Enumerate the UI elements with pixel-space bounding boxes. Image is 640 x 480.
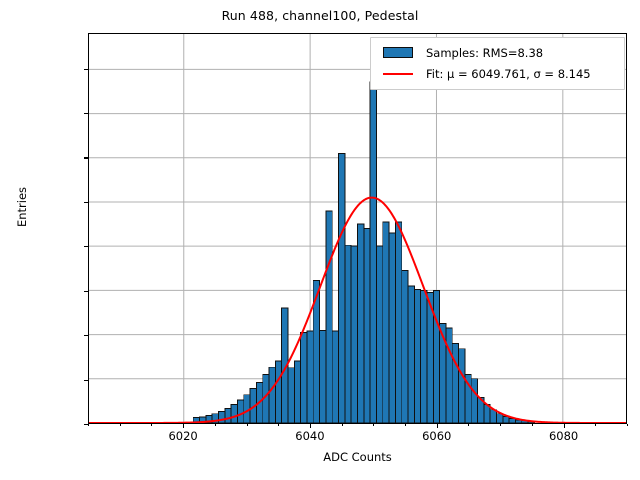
y-axis-label: Entries xyxy=(15,137,29,277)
legend-label-fit: Fit: μ = 6049.761, σ = 8.145 xyxy=(418,67,591,81)
plot-area xyxy=(88,33,627,424)
x-tick-minor-mark xyxy=(247,424,248,426)
x-tick-label: 6040 xyxy=(295,429,324,443)
x-tick-minor-mark xyxy=(88,424,89,426)
x-tick-minor-mark xyxy=(595,424,596,426)
x-tick-mark xyxy=(564,424,565,428)
x-tick-minor-mark xyxy=(468,424,469,426)
legend-line-icon xyxy=(378,73,418,75)
x-tick-minor-mark xyxy=(405,424,406,426)
legend-patch-icon xyxy=(378,47,418,58)
x-tick-minor-mark xyxy=(342,424,343,426)
x-tick-minor-mark xyxy=(278,424,279,426)
x-tick-minor-mark xyxy=(627,424,628,426)
x-tick-minor-mark xyxy=(373,424,374,426)
figure-canvas: Run 488, channel100, Pedestal Entries AD… xyxy=(0,0,640,480)
legend-label-samples: Samples: RMS=8.38 xyxy=(418,46,543,60)
x-tick-mark xyxy=(437,424,438,428)
x-tick-minor-mark xyxy=(151,424,152,426)
x-tick-minor-mark xyxy=(500,424,501,426)
x-tick-minor-mark xyxy=(215,424,216,426)
x-tick-label: 6020 xyxy=(168,429,197,443)
x-tick-mark xyxy=(310,424,311,428)
x-tick-label: 6060 xyxy=(422,429,451,443)
x-tick-minor-mark xyxy=(532,424,533,426)
x-tick-label: 6080 xyxy=(549,429,578,443)
x-tick-minor-mark xyxy=(120,424,121,426)
chart-legend: Samples: RMS=8.38 Fit: μ = 6049.761, σ =… xyxy=(370,37,625,90)
legend-item-fit: Fit: μ = 6049.761, σ = 8.145 xyxy=(378,63,617,84)
x-axis-label: ADC Counts xyxy=(88,450,627,464)
page-title: Run 488, channel100, Pedestal xyxy=(0,8,640,23)
legend-item-samples: Samples: RMS=8.38 xyxy=(378,42,617,63)
histogram-and-fit xyxy=(89,34,626,423)
x-tick-mark xyxy=(183,424,184,428)
